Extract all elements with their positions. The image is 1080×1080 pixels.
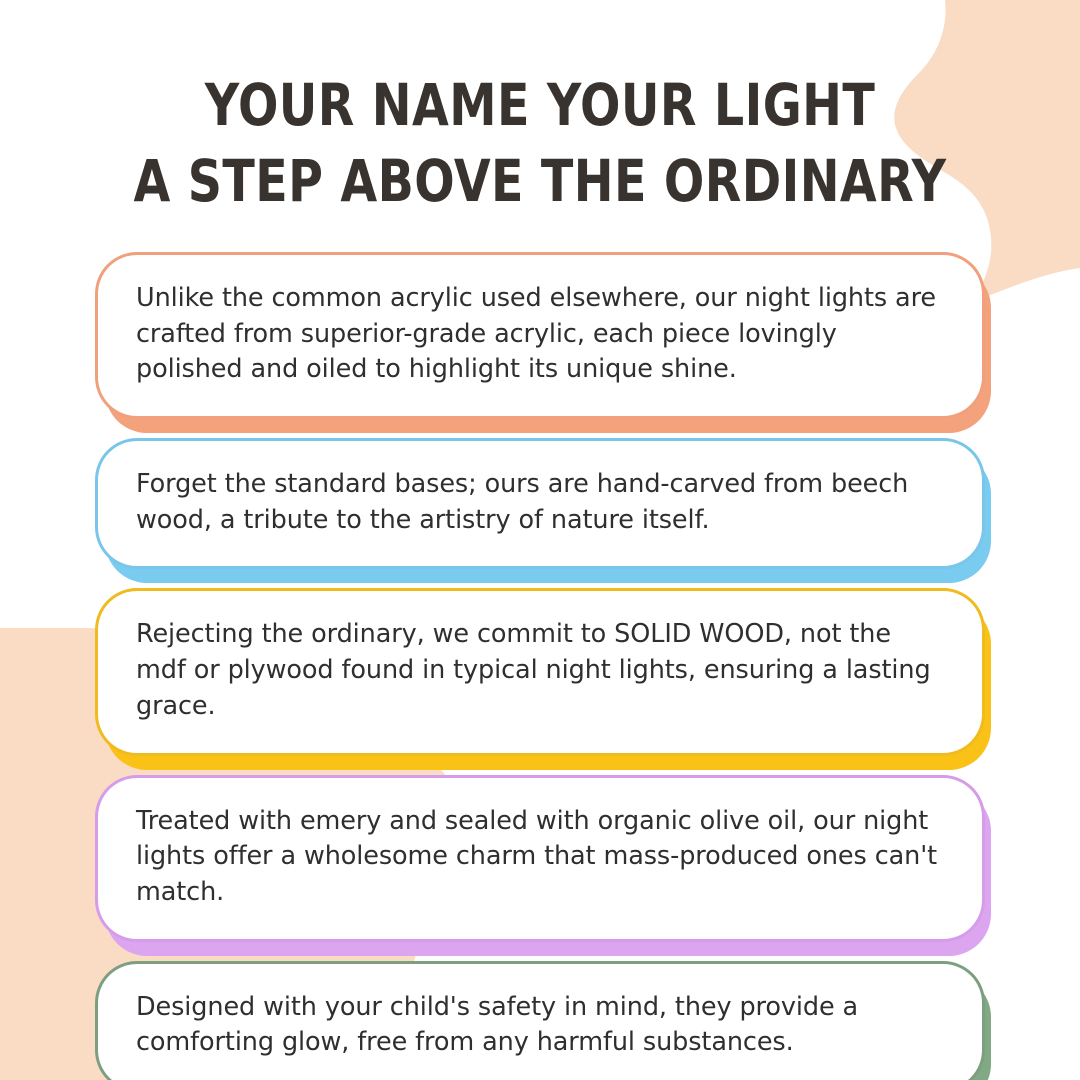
- card-text-acrylic: Unlike the common acrylic used elsewhere…: [136, 281, 942, 388]
- title-line-1: YOUR NAME YOUR LIGHT: [97, 76, 983, 134]
- card-body-olive-oil: Treated with emery and sealed with organ…: [95, 775, 985, 942]
- feature-card-child-safety: Designed with your child's safety in min…: [95, 961, 985, 1080]
- title-line-2: A STEP ABOVE THE ORDINARY: [97, 152, 983, 210]
- card-text-beech-wood: Forget the standard bases; ours are hand…: [136, 467, 942, 538]
- feature-card-list: Unlike the common acrylic used elsewhere…: [0, 252, 1080, 1080]
- poster-canvas: YOUR NAME YOUR LIGHT A STEP ABOVE THE OR…: [0, 0, 1080, 1080]
- card-body-solid-wood: Rejecting the ordinary, we commit to SOL…: [95, 588, 985, 755]
- page-title: YOUR NAME YOUR LIGHT A STEP ABOVE THE OR…: [0, 76, 1080, 210]
- feature-card-solid-wood: Rejecting the ordinary, we commit to SOL…: [95, 588, 985, 755]
- card-body-beech-wood: Forget the standard bases; ours are hand…: [95, 438, 985, 569]
- card-body-acrylic: Unlike the common acrylic used elsewhere…: [95, 252, 985, 419]
- feature-card-olive-oil: Treated with emery and sealed with organ…: [95, 775, 985, 942]
- card-text-olive-oil: Treated with emery and sealed with organ…: [136, 804, 942, 911]
- feature-card-beech-wood: Forget the standard bases; ours are hand…: [95, 438, 985, 569]
- card-text-solid-wood: Rejecting the ordinary, we commit to SOL…: [136, 617, 942, 724]
- card-body-child-safety: Designed with your child's safety in min…: [95, 961, 985, 1080]
- feature-card-acrylic: Unlike the common acrylic used elsewhere…: [95, 252, 985, 419]
- card-text-child-safety: Designed with your child's safety in min…: [136, 990, 942, 1061]
